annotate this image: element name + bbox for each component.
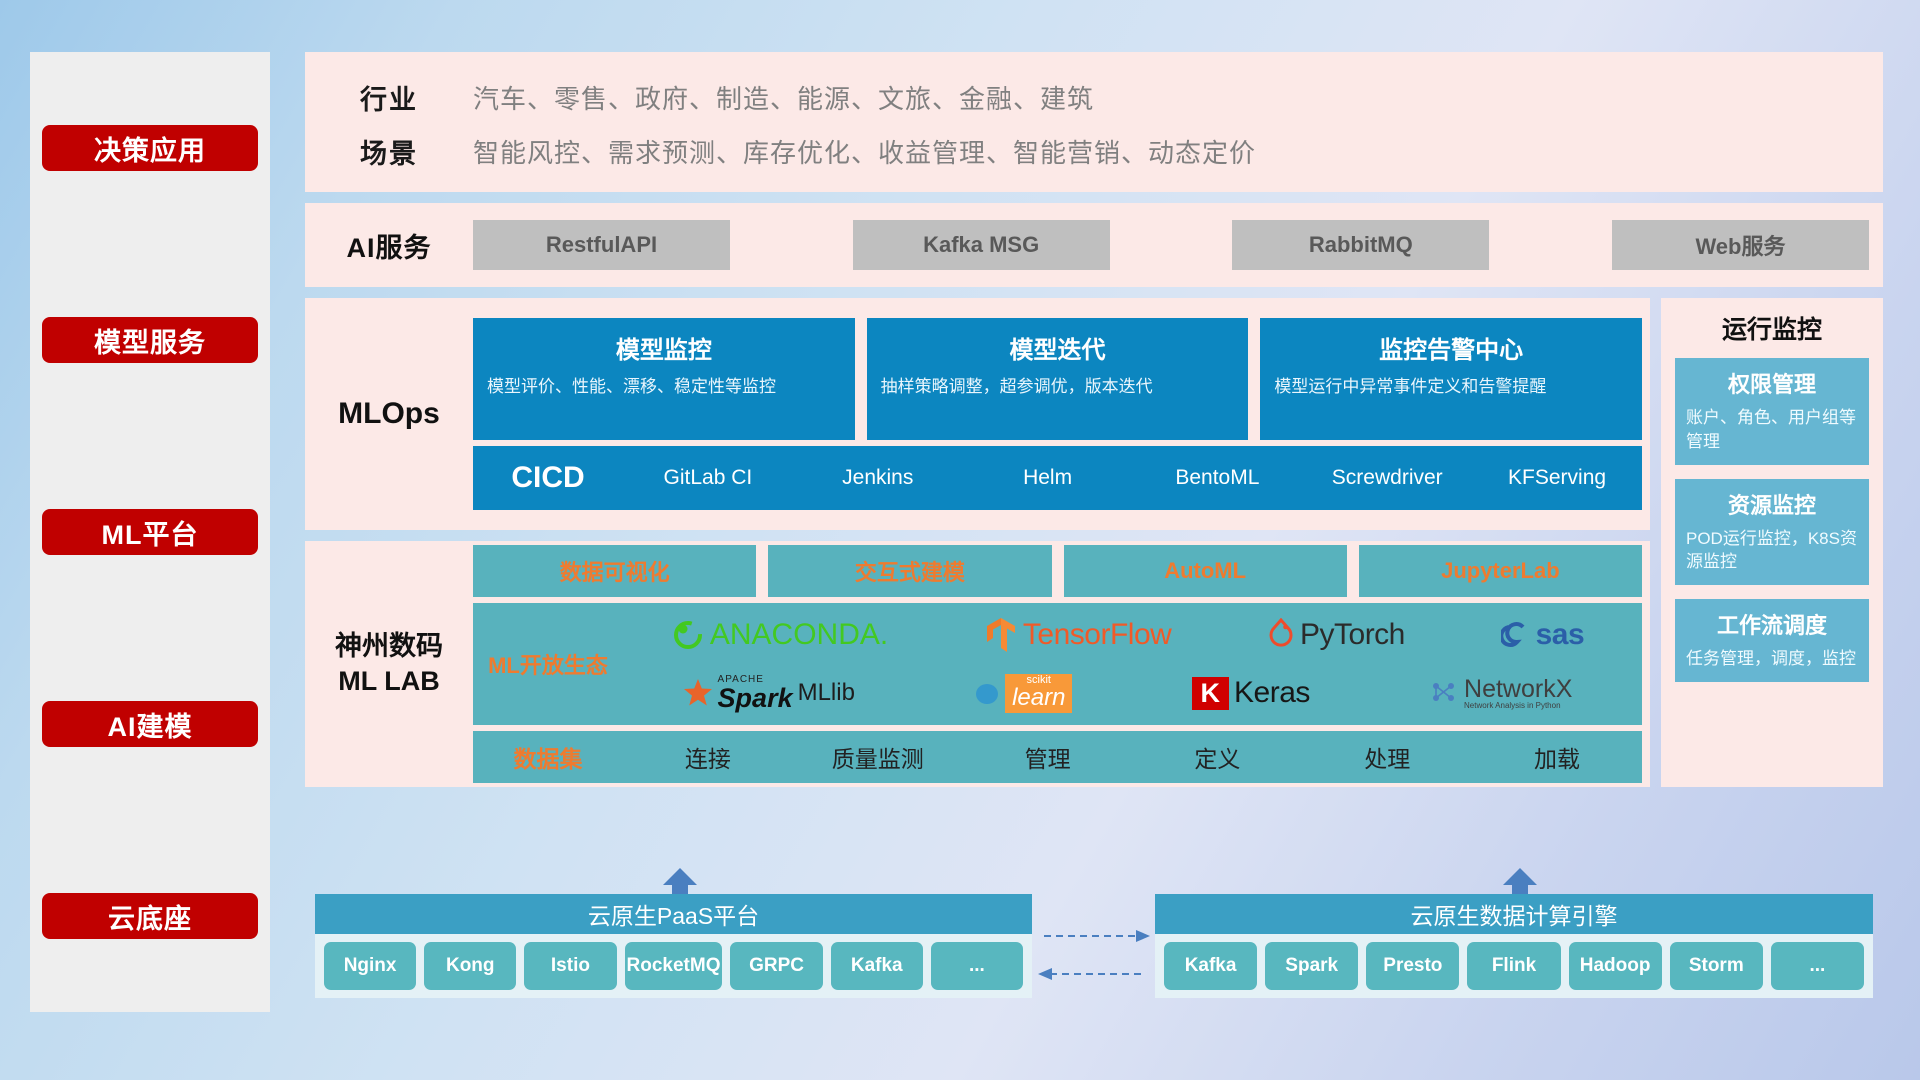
scenario-row: 场景 智能风控、需求预测、库存优化、收益管理、智能营销、动态定价	[305, 124, 1883, 178]
dataset-item-define[interactable]: 定义	[1132, 740, 1302, 774]
monitor-card-resource[interactable]: 资源监控 POD运行监控，K8S资源监控	[1675, 479, 1869, 586]
ml-open-ecosystem-row: ML开放生态 ANACONDA.	[473, 603, 1642, 725]
ml-lab-label-line1: 神州数码	[305, 629, 473, 664]
ml-lab-label: 神州数码 ML LAB	[305, 629, 473, 699]
paas-chip-nginx[interactable]: Nginx	[324, 942, 416, 990]
mlops-label: MLOps	[305, 397, 473, 431]
learn-text: learn	[1012, 686, 1065, 710]
data-chip-hadoop[interactable]: Hadoop	[1569, 942, 1662, 990]
industry-row: 行业 汽车、零售、政府、制造、能源、文旅、金融、建筑	[305, 70, 1883, 124]
rail-chip-ml-platform[interactable]: ML平台	[42, 509, 258, 555]
mlops-card-title: 模型监控	[487, 330, 841, 365]
mlops-card-title: 模型迭代	[881, 330, 1235, 365]
keras-k-icon: K	[1192, 677, 1230, 710]
cicd-item-list: GitLab CI Jenkins Helm BentoML Screwdriv…	[623, 464, 1642, 492]
pytorch-icon	[1267, 618, 1295, 652]
dataset-item-manage[interactable]: 管理	[963, 740, 1133, 774]
tensorflow-icon	[984, 616, 1018, 654]
tool-chip-interactive-modeling[interactable]: 交互式建模	[768, 545, 1051, 597]
monitor-card-title: 工作流调度	[1686, 608, 1858, 640]
runtime-monitoring-column: 运行监控 权限管理 账户、角色、用户组等管理 资源监控 POD运行监控，K8S资…	[1661, 298, 1883, 787]
mlops-card-desc: 模型评价、性能、漂移、稳定性等监控	[487, 375, 841, 400]
cicd-item-bentoml[interactable]: BentoML	[1132, 464, 1302, 492]
mlops-card-alert-center[interactable]: 监控告警中心 模型运行中异常事件定义和告警提醒	[1260, 318, 1642, 440]
cicd-item-screwdriver[interactable]: Screwdriver	[1302, 464, 1472, 492]
spark-mllib-logo: APACHE Spark MLlib	[683, 675, 855, 712]
rail-chip-cloud-base[interactable]: 云底座	[42, 893, 258, 939]
dataset-label: 数据集	[473, 740, 623, 774]
service-chip-restfulapi[interactable]: RestfulAPI	[473, 220, 730, 270]
rail-slot: 云底座	[30, 820, 270, 1012]
monitor-card-title: 资源监控	[1686, 488, 1858, 520]
mlops-card-desc: 模型运行中异常事件定义和告警提醒	[1274, 375, 1628, 400]
dataset-item-process[interactable]: 处理	[1302, 740, 1472, 774]
networkx-logo-text: NetworkX	[1464, 676, 1572, 702]
anaconda-icon	[671, 618, 705, 652]
rail-chip-ai-modeling[interactable]: AI建模	[42, 701, 258, 747]
keras-logo-text: Keras	[1234, 676, 1310, 710]
dataset-item-list: 连接 质量监测 管理 定义 处理 加载	[623, 740, 1642, 774]
dataset-item-connect[interactable]: 连接	[623, 740, 793, 774]
ai-services-band: AI服务 RestfulAPI Kafka MSG RabbitMQ Web服务	[305, 203, 1883, 287]
paas-chip-istio[interactable]: Istio	[524, 942, 616, 990]
stack-layer-rail: 决策应用 模型服务 ML平台 AI建模 云底座	[30, 52, 270, 1012]
ai-services-list: RestfulAPI Kafka MSG RabbitMQ Web服务	[473, 220, 1883, 270]
pytorch-logo-text: PyTorch	[1300, 618, 1405, 652]
tool-chip-automl[interactable]: AutoML	[1064, 545, 1347, 597]
service-chip-rabbitmq[interactable]: RabbitMQ	[1232, 220, 1489, 270]
monitor-card-desc: POD运行监控，K8S资源监控	[1686, 527, 1858, 575]
mlops-card-model-monitoring[interactable]: 模型监控 模型评价、性能、漂移、稳定性等监控	[473, 318, 855, 440]
data-chip-flink[interactable]: Flink	[1467, 942, 1560, 990]
sas-logo-text: sas	[1536, 618, 1585, 652]
cicd-item-kfserving[interactable]: KFServing	[1472, 464, 1642, 492]
dataset-row: 数据集 连接 质量监测 管理 定义 处理 加载	[473, 731, 1642, 783]
cicd-item-gitlab-ci[interactable]: GitLab CI	[623, 464, 793, 492]
spark-star-icon	[683, 678, 713, 708]
tool-chip-data-visualization[interactable]: 数据可视化	[473, 545, 756, 597]
sas-icon	[1501, 620, 1531, 650]
cloud-foundation-area: 云原生PaaS平台 Nginx Kong Istio RocketMQ GRPC…	[305, 880, 1883, 1015]
ml-lab-content: 数据可视化 交互式建模 AutoML JupyterLab ML开放生态	[473, 545, 1650, 783]
mlops-card-desc: 抽样策略调整，超参调优，版本迭代	[881, 375, 1235, 400]
runtime-monitoring-title: 运行监控	[1675, 310, 1869, 346]
rail-slot: AI建模	[30, 628, 270, 820]
dataset-item-quality[interactable]: 质量监测	[793, 740, 963, 774]
data-chip-presto[interactable]: Presto	[1366, 942, 1459, 990]
cicd-item-helm[interactable]: Helm	[963, 464, 1133, 492]
cloud-data-engine-title: 云原生数据计算引擎	[1155, 894, 1873, 934]
data-chip-more[interactable]: ...	[1771, 942, 1864, 990]
ml-logo-row-1: ANACONDA. TensorFlow	[623, 607, 1632, 663]
monitor-card-title: 权限管理	[1686, 367, 1858, 399]
cloud-paas-items: Nginx Kong Istio RocketMQ GRPC Kafka ...	[315, 934, 1032, 998]
anaconda-logo-text: ANACONDA.	[710, 618, 888, 652]
paas-chip-rocketmq[interactable]: RocketMQ	[625, 942, 723, 990]
decision-apps-band: 行业 汽车、零售、政府、制造、能源、文旅、金融、建筑 场景 智能风控、需求预测、…	[305, 52, 1883, 192]
monitor-card-desc: 账户、角色、用户组等管理	[1686, 406, 1858, 454]
rail-chip-decision-apps[interactable]: 决策应用	[42, 125, 258, 171]
cicd-bar: CICD GitLab CI Jenkins Helm BentoML Scre…	[473, 446, 1642, 510]
paas-chip-kong[interactable]: Kong	[424, 942, 516, 990]
ml-logo-grid: ANACONDA. TensorFlow	[623, 607, 1642, 721]
monitor-card-permission[interactable]: 权限管理 账户、角色、用户组等管理	[1675, 358, 1869, 465]
mlops-band: MLOps 模型监控 模型评价、性能、漂移、稳定性等监控 模型迭代 抽样策略调整…	[305, 298, 1650, 530]
monitor-card-desc: 任务管理，调度，监控	[1686, 647, 1858, 671]
mlops-card-list: 模型监控 模型评价、性能、漂移、稳定性等监控 模型迭代 抽样策略调整，超参调优，…	[473, 318, 1642, 440]
networkx-icon	[1429, 678, 1459, 708]
dataset-item-load[interactable]: 加载	[1472, 740, 1642, 774]
service-chip-web-service[interactable]: Web服务	[1612, 220, 1869, 270]
cicd-title: CICD	[473, 461, 623, 495]
ai-services-label: AI服务	[305, 226, 473, 265]
scenario-label: 场景	[305, 132, 473, 171]
data-chip-kafka[interactable]: Kafka	[1164, 942, 1257, 990]
tensorflow-logo-text: TensorFlow	[1023, 618, 1171, 652]
ml-tool-list: 数据可视化 交互式建模 AutoML JupyterLab	[473, 545, 1642, 597]
ml-lab-label-line2: ML LAB	[305, 664, 473, 699]
paas-chip-kafka[interactable]: Kafka	[831, 942, 923, 990]
pytorch-logo: PyTorch	[1267, 618, 1405, 652]
cloud-data-engine-items: Kafka Spark Presto Flink Hadoop Storm ..…	[1155, 934, 1873, 998]
rail-slot: 决策应用	[30, 52, 270, 244]
architecture-main-column: 行业 汽车、零售、政府、制造、能源、文旅、金融、建筑 场景 智能风控、需求预测、…	[305, 52, 1883, 1012]
lower-area: MLOps 模型监控 模型评价、性能、漂移、稳定性等监控 模型迭代 抽样策略调整…	[305, 298, 1883, 787]
cicd-item-jenkins[interactable]: Jenkins	[793, 464, 963, 492]
rail-chip-model-service[interactable]: 模型服务	[42, 317, 258, 363]
anaconda-logo: ANACONDA.	[671, 618, 888, 652]
keras-logo: K Keras	[1192, 676, 1310, 710]
cloud-native-data-engine-block: 云原生数据计算引擎 Kafka Spark Presto Flink Hadoo…	[1155, 894, 1873, 998]
mlops-content: 模型监控 模型评价、性能、漂移、稳定性等监控 模型迭代 抽样策略调整，超参调优，…	[473, 318, 1650, 510]
cloud-native-paas-block: 云原生PaaS平台 Nginx Kong Istio RocketMQ GRPC…	[315, 894, 1032, 998]
networkx-subtitle: Network Analysis in Python	[1464, 702, 1572, 710]
cloud-paas-title: 云原生PaaS平台	[315, 894, 1032, 934]
paas-chip-grpc[interactable]: GRPC	[730, 942, 822, 990]
tensorflow-logo: TensorFlow	[984, 616, 1171, 654]
ai-modeling-band: 神州数码 ML LAB 数据可视化 交互式建模 AutoML JupyterLa…	[305, 541, 1650, 787]
spark-logo-text: Spark	[718, 685, 793, 712]
service-chip-kafka-msg[interactable]: Kafka MSG	[853, 220, 1110, 270]
data-chip-storm[interactable]: Storm	[1670, 942, 1763, 990]
ml-logo-row-2: APACHE Spark MLlib	[623, 665, 1632, 721]
rail-slot: 模型服务	[30, 244, 270, 436]
mllib-text: MLlib	[798, 679, 855, 707]
ml-open-ecosystem-label: ML开放生态	[473, 648, 623, 680]
data-chip-spark[interactable]: Spark	[1265, 942, 1358, 990]
tool-chip-jupyterlab[interactable]: JupyterLab	[1359, 545, 1642, 597]
scikit-learn-logo: scikit learn	[974, 674, 1072, 713]
scenario-values: 智能风控、需求预测、库存优化、收益管理、智能营销、动态定价	[473, 133, 1256, 170]
mlops-card-title: 监控告警中心	[1274, 330, 1628, 365]
platform-and-modeling-column: MLOps 模型监控 模型评价、性能、漂移、稳定性等监控 模型迭代 抽样策略调整…	[305, 298, 1650, 787]
networkx-logo: NetworkX Network Analysis in Python	[1429, 676, 1572, 711]
mlops-card-model-iteration[interactable]: 模型迭代 抽样策略调整，超参调优，版本迭代	[867, 318, 1249, 440]
industry-values: 汽车、零售、政府、制造、能源、文旅、金融、建筑	[473, 79, 1094, 116]
bidirectional-dashed-arrows	[1038, 922, 1150, 992]
monitor-card-workflow[interactable]: 工作流调度 任务管理，调度，监控	[1675, 599, 1869, 682]
rail-slot: ML平台	[30, 436, 270, 628]
paas-chip-more[interactable]: ...	[931, 942, 1023, 990]
sas-logo: sas	[1501, 618, 1585, 652]
industry-label: 行业	[305, 78, 473, 117]
